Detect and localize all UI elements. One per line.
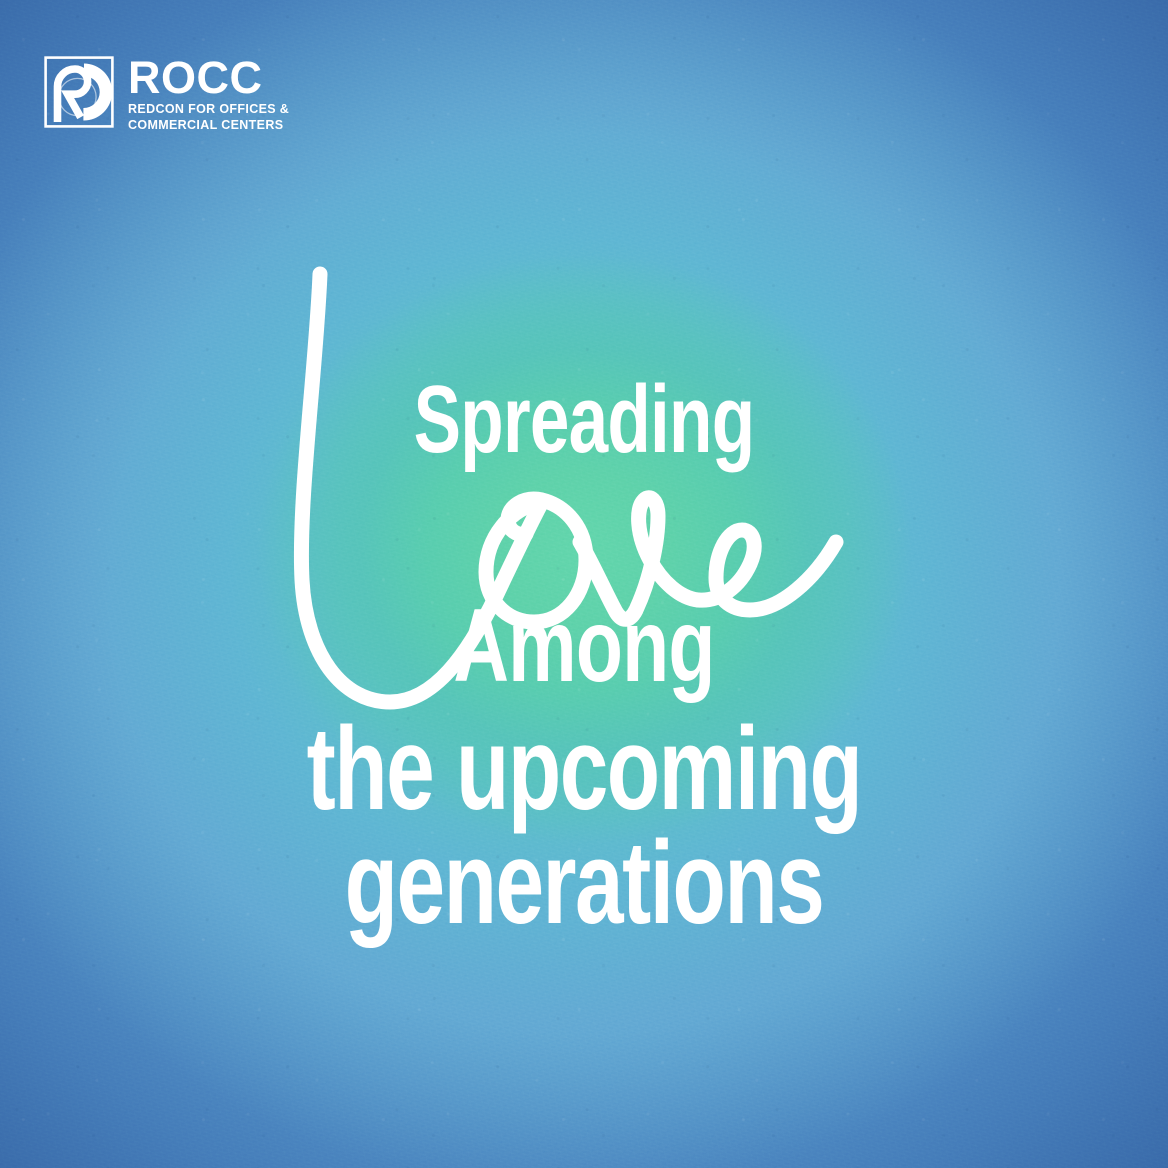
brand-wordmark: ROCC xyxy=(128,57,289,98)
brand-logo: ROCC REDCON FOR OFFICES & COMMERCIAL CEN… xyxy=(44,56,289,133)
brand-tagline-line-2: COMMERCIAL CENTERS xyxy=(128,117,289,133)
brand-tagline-line-1: REDCON FOR OFFICES & xyxy=(128,101,289,117)
brand-logo-text: ROCC REDCON FOR OFFICES & COMMERCIAL CEN… xyxy=(128,56,289,133)
brand-tagline: REDCON FOR OFFICES & COMMERCIAL CENTERS xyxy=(128,101,289,133)
background-vignette xyxy=(0,0,1168,1168)
social-post-canvas: ROCC REDCON FOR OFFICES & COMMERCIAL CEN… xyxy=(0,0,1168,1168)
rocc-monogram-icon xyxy=(44,56,114,128)
